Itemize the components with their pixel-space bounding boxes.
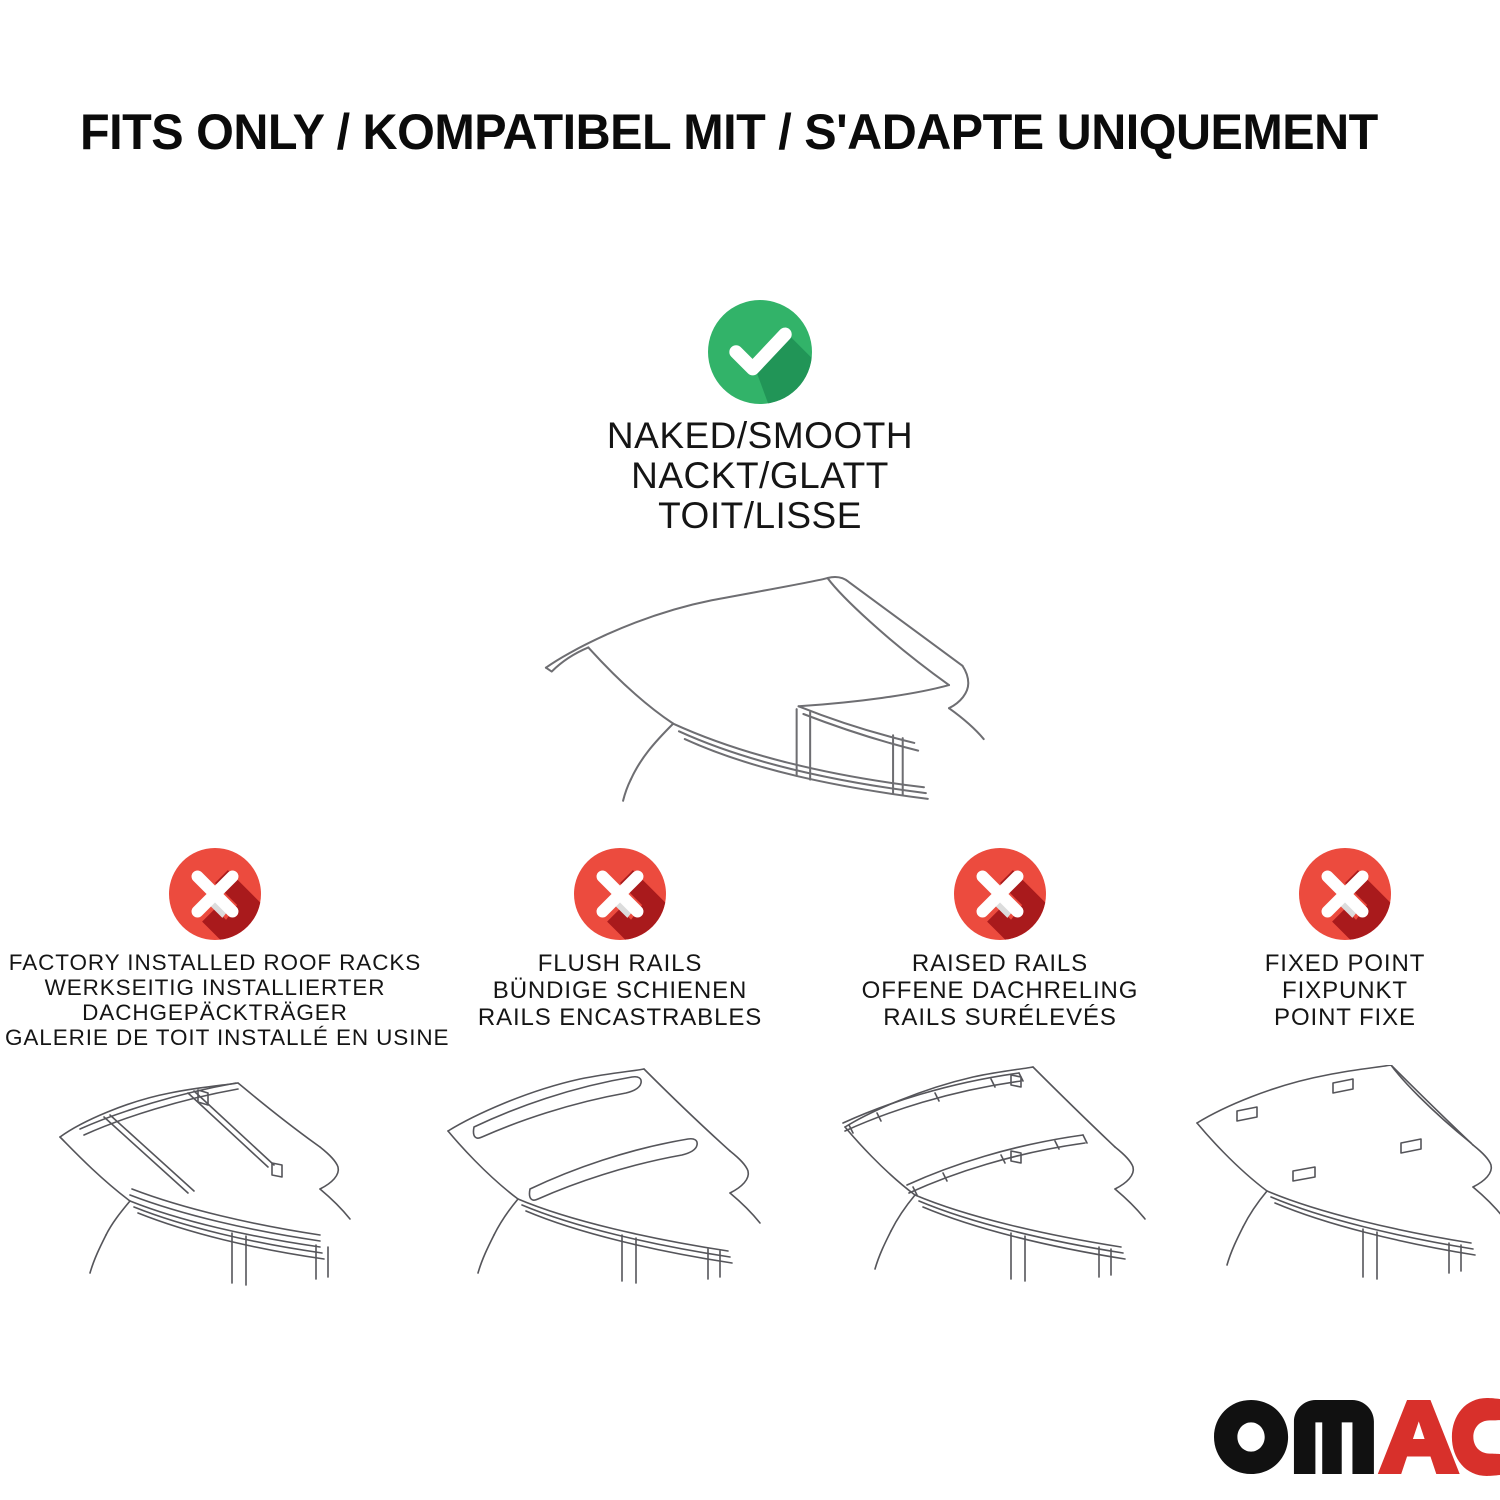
- incompatible-labels: RAISED RAILS OFFENE DACHRELING RAILS SUR…: [820, 950, 1180, 1031]
- compatible-label-en: NAKED/SMOOTH: [500, 416, 1020, 456]
- incompatible-label-fr: POINT FIXE: [1195, 1004, 1495, 1031]
- incompatible-labels: FIXED POINT FIXPUNKT POINT FIXE: [1195, 950, 1495, 1031]
- car-roof-raised-rails-illustration: [815, 1065, 1195, 1290]
- incompatible-item-flush-rails: FLUSH RAILS BÜNDIGE SCHIENEN RAILS ENCAS…: [440, 848, 800, 1031]
- car-roof-fixed-point-illustration: [1185, 1065, 1500, 1290]
- red-x-circle-icon: [169, 848, 261, 940]
- incompatible-label-fr: RAILS ENCASTRABLES: [440, 1004, 800, 1031]
- incompatible-label-en: RAISED RAILS: [820, 950, 1180, 977]
- incompatible-label-de: OFFENE DACHRELING: [820, 977, 1180, 1004]
- incompatible-label-en: FACTORY INSTALLED ROOF RACKS: [5, 950, 425, 975]
- car-roof-naked-smooth-illustration: [500, 552, 1020, 822]
- incompatible-item-fixed-point: FIXED POINT FIXPUNKT POINT FIXE: [1195, 848, 1495, 1031]
- incompatible-item-factory-installed-roof-racks: FACTORY INSTALLED ROOF RACKS WERKSEITIG …: [5, 848, 425, 1050]
- compatible-labels: NAKED/SMOOTH NACKT/GLATT TOIT/LISSE: [500, 416, 1020, 536]
- green-check-circle-icon: [708, 300, 812, 404]
- red-x-circle-icon: [954, 848, 1046, 940]
- red-x-circle-icon: [574, 848, 666, 940]
- incompatible-label-fr: GALERIE DE TOIT INSTALLÉ EN USINE: [5, 1025, 425, 1050]
- logo-letter-m: [1294, 1400, 1374, 1474]
- car-roof-factory-rack-illustration: [20, 1065, 420, 1290]
- logo-letter-a: [1378, 1400, 1460, 1474]
- logo-letter-c: [1452, 1398, 1500, 1476]
- incompatible-label-de: BÜNDIGE SCHIENEN: [440, 977, 800, 1004]
- incompatible-label-en: FLUSH RAILS: [440, 950, 800, 977]
- incompatible-label-de-2: DACHGEPÄCKTRÄGER: [5, 1000, 425, 1025]
- car-roof-flush-rails-illustration: [430, 1065, 810, 1290]
- incompatible-label-en: FIXED POINT: [1195, 950, 1495, 977]
- incompatible-label-de: FIXPUNKT: [1195, 977, 1495, 1004]
- fitment-infographic: FITS ONLY / KOMPATIBEL MIT / S'ADAPTE UN…: [0, 0, 1500, 1500]
- roof-illustrations-row: [0, 1065, 1500, 1295]
- incompatible-labels: FACTORY INSTALLED ROOF RACKS WERKSEITIG …: [5, 950, 425, 1050]
- page-title: FITS ONLY / KOMPATIBEL MIT / S'ADAPTE UN…: [80, 103, 1380, 161]
- incompatible-labels: FLUSH RAILS BÜNDIGE SCHIENEN RAILS ENCAS…: [440, 950, 800, 1031]
- compatible-section: NAKED/SMOOTH NACKT/GLATT TOIT/LISSE: [500, 300, 1020, 822]
- compatible-label-fr: TOIT/LISSE: [500, 496, 1020, 536]
- incompatible-label-de-1: WERKSEITIG INSTALLIERTER: [5, 975, 425, 1000]
- incompatible-label-fr: RAILS SURÉLEVÉS: [820, 1004, 1180, 1031]
- compatible-label-de: NACKT/GLATT: [500, 456, 1020, 496]
- logo-letter-o: [1214, 1400, 1288, 1474]
- incompatible-item-raised-rails: RAISED RAILS OFFENE DACHRELING RAILS SUR…: [820, 848, 1180, 1031]
- red-x-circle-icon: [1299, 848, 1391, 940]
- omac-logo: [1214, 1398, 1500, 1476]
